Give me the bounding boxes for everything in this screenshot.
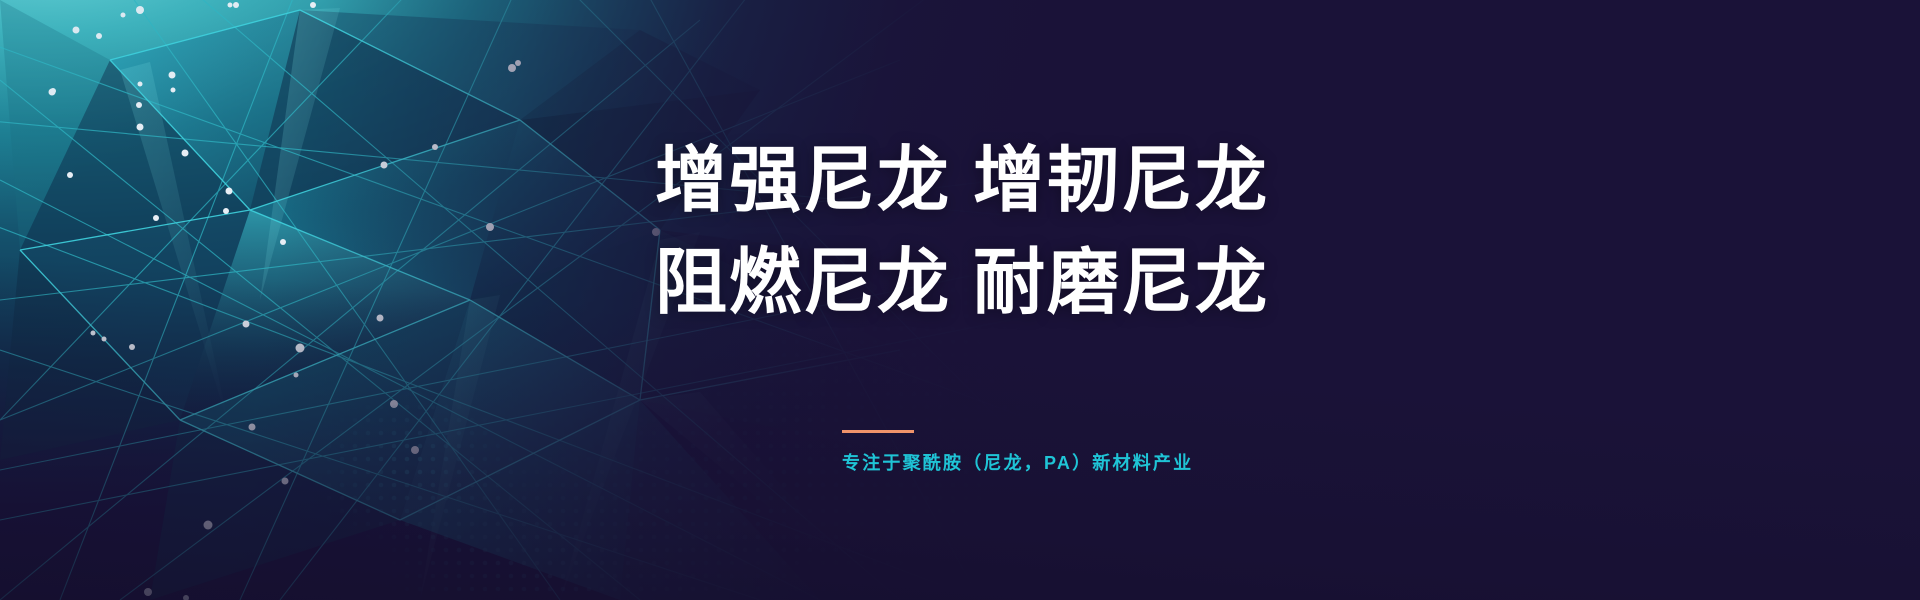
- headline-line-2: 阻燃尼龙 耐磨尼龙: [655, 232, 1269, 334]
- accent-divider: [842, 430, 914, 433]
- hero-banner: 增强尼龙 增韧尼龙 阻燃尼龙 耐磨尼龙 专注于聚酰胺（尼龙，PA）新材料产业: [0, 0, 1920, 600]
- headline-line-1: 增强尼龙 增韧尼龙: [655, 130, 1269, 232]
- hero-content: 增强尼龙 增韧尼龙 阻燃尼龙 耐磨尼龙 专注于聚酰胺（尼龙，PA）新材料产业: [650, 0, 1650, 600]
- headline: 增强尼龙 增韧尼龙 阻燃尼龙 耐磨尼龙: [655, 130, 1269, 334]
- subtitle-text: 专注于聚酰胺（尼龙，PA）新材料产业: [842, 449, 1193, 475]
- subtitle-block: 专注于聚酰胺（尼龙，PA）新材料产业: [842, 430, 1193, 475]
